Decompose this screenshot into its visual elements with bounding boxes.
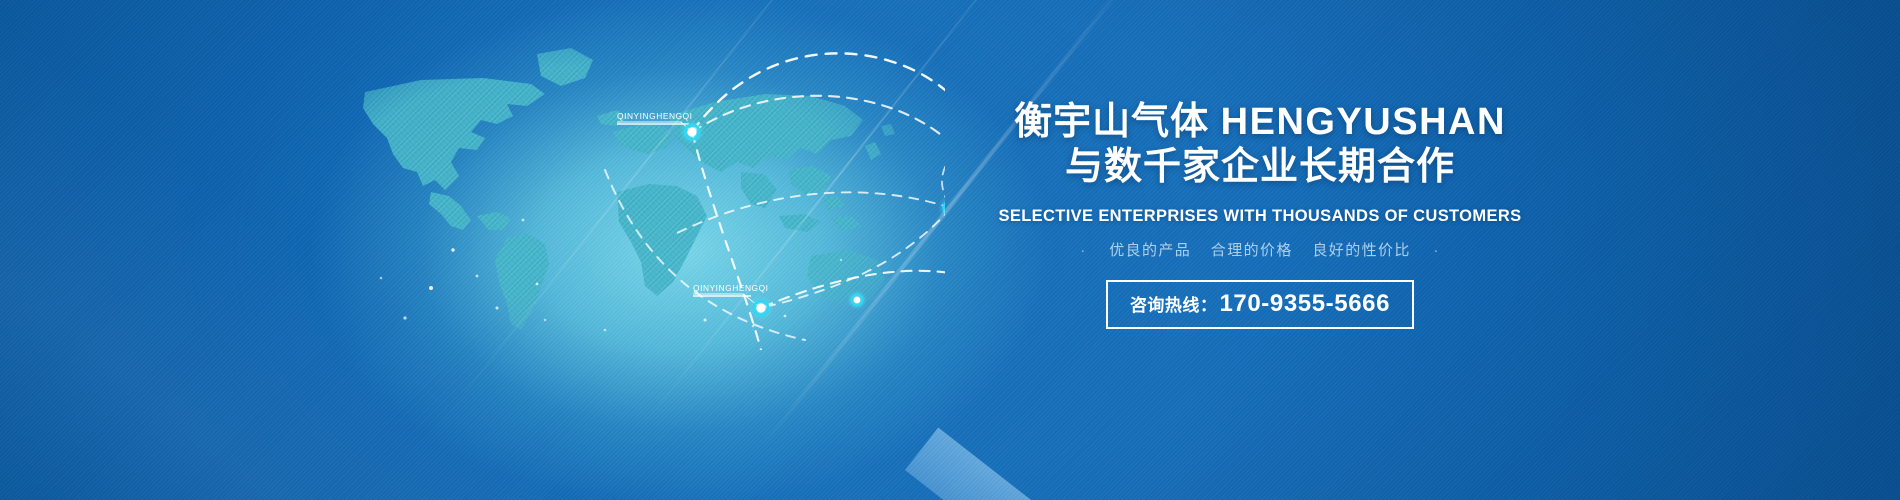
subtitle-english: SELECTIVE ENTERPRISES WITH THOUSANDS OF …: [930, 207, 1590, 226]
banner-copy: 衡宇山气体 HENGYUSHAN 与数千家企业长期合作 SELECTIVE EN…: [930, 100, 1590, 329]
map-label: QINYINGHENGQI: [693, 283, 769, 293]
headline-en: HENGYUSHAN: [1221, 101, 1506, 143]
tagline-lead-dot: ·: [1070, 242, 1096, 259]
map-label: QINYINGHENGQI: [617, 111, 693, 121]
headline-cn: 衡宇山气体: [1014, 101, 1209, 143]
tagline: · 优良的产品 合理的价格 良好的性价比 ·: [930, 239, 1590, 260]
tagline-part-1: 优良的产品: [1102, 242, 1198, 259]
hotline-label: 咨询热线：: [1130, 291, 1218, 316]
tagline-part-2: 合理的价格: [1204, 242, 1300, 259]
hotline-box[interactable]: 咨询热线： 170-9355-5666: [1106, 280, 1414, 329]
headline-line-1: 衡宇山气体 HENGYUSHAN: [930, 100, 1590, 145]
map-star-dots: [380, 219, 843, 332]
marketing-banner: QINYINGHENGQI QINYINGHENGQI QINYINGHENGQ…: [0, 0, 1900, 500]
hotline-number: 170-9355-5666: [1219, 290, 1390, 318]
headline-line-2: 与数千家企业长期合作: [930, 145, 1590, 190]
tagline-part-3: 良好的性价比: [1305, 242, 1417, 259]
tagline-trail-dot: ·: [1423, 242, 1449, 259]
world-map-svg: QINYINGHENGQI QINYINGHENGQI QINYINGHENGQ…: [245, 20, 945, 350]
world-map: QINYINGHENGQI QINYINGHENGQI QINYINGHENGQ…: [245, 20, 945, 350]
